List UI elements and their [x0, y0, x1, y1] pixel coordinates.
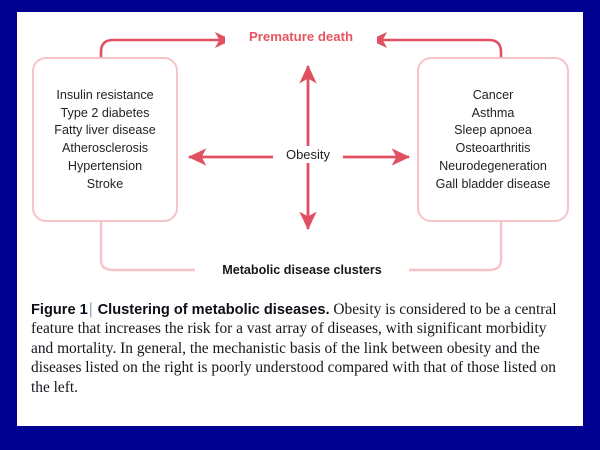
disease-item: Neurodegeneration	[439, 157, 547, 175]
disease-item: Type 2 diabetes	[61, 104, 150, 122]
disease-item: Fatty liver disease	[54, 122, 156, 140]
figure-caption: Figure 1| Clustering of metabolic diseas…	[31, 300, 571, 397]
disease-item: Osteoarthritis	[456, 140, 531, 158]
disease-item: Sleep apnoea	[454, 122, 532, 140]
disease-item: Cancer	[473, 86, 514, 104]
caption-separator: |	[88, 301, 94, 318]
disease-item: Stroke	[87, 175, 123, 193]
disease-item: Insulin resistance	[56, 86, 153, 104]
disease-item: Hypertension	[68, 157, 142, 175]
figure-panel: Premature death Insulin resistance Type …	[17, 12, 583, 426]
disease-item: Atherosclerosis	[62, 140, 148, 158]
obesity-label: Obesity	[273, 146, 343, 163]
disease-item: Asthma	[472, 104, 515, 122]
caption-figure-number: Figure 1	[31, 302, 88, 318]
right-disease-cluster-box: Cancer Asthma Sleep apnoea Osteoarthriti…	[417, 57, 569, 222]
metabolic-disease-clusters-label: Metabolic disease clusters	[195, 262, 409, 278]
premature-death-label: Premature death	[225, 28, 377, 45]
disease-item: Gall bladder disease	[436, 175, 551, 193]
caption-title: Clustering of metabolic diseases.	[98, 302, 330, 318]
diagram-canvas: Premature death Insulin resistance Type …	[17, 12, 583, 290]
left-disease-cluster-box: Insulin resistance Type 2 diabetes Fatty…	[32, 57, 178, 222]
